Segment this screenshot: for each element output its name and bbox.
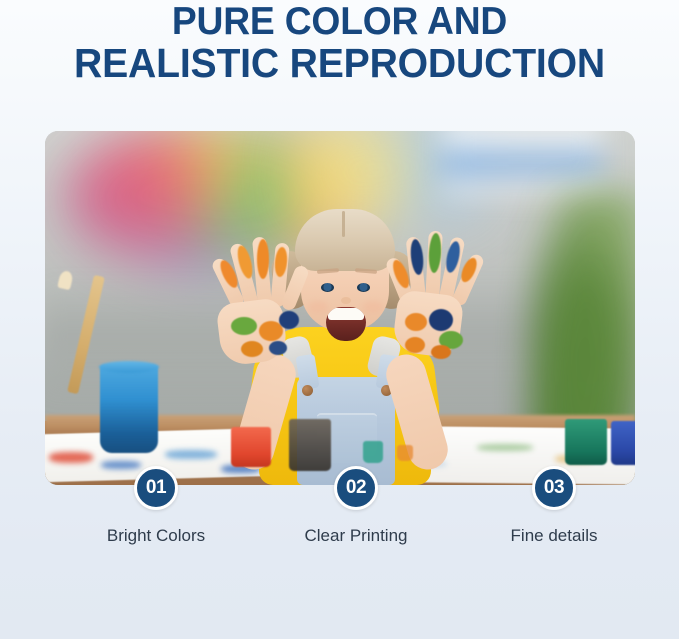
photo-water-cup [100,365,158,453]
feature-label-1: Bright Colors [56,526,256,546]
photo-girl-nose [341,297,351,304]
photo-girl-overalls-button [302,385,313,396]
photo-paint-blob [405,313,427,331]
feature-label-3: Fine details [454,526,654,546]
page-title-line-2: REALISTIC REPRODUCTION [15,42,663,84]
photo-paint-jar [363,441,383,463]
photo-paint-jar [611,421,635,465]
feature-badge-03: 03 [532,466,576,510]
photo-girl-cheek-right [363,301,383,313]
photo-paint-jar [231,427,271,467]
page-title: PURE COLOR AND REALISTIC REPRODUCTION [0,0,679,84]
feature-item-1: 01 Bright Colors [56,466,256,546]
photo-girl-hair-part [342,211,345,237]
feature-item-2: 02 Clear Printing [256,466,456,546]
photo-paint-blob [431,345,451,359]
feature-list: 01 Bright Colors 02 Clear Printing 03 Fi… [0,466,679,566]
hero-photo [45,131,635,485]
photo-girl-eye-left [321,283,334,292]
photo-paint-blob [279,311,299,329]
feature-item-3: 03 Fine details [454,466,654,546]
photo-girl-hair [295,209,395,271]
feature-badge-02: 02 [334,466,378,510]
photo-girl-eye-right [357,283,370,292]
photo-paint-jar [289,419,331,471]
photo-girl-teeth [328,308,364,320]
photo-paint-blob [269,341,287,355]
photo-paint-blob [231,317,257,335]
photo-paint-blob [241,341,263,357]
photo-girl-cheek-left [308,301,328,313]
photo-paint-blob [257,239,269,279]
feature-label-2: Clear Printing [256,526,456,546]
photo-paint-blob [405,337,425,353]
photo-paint-jar [565,419,607,465]
feature-badge-01: 01 [134,466,178,510]
photo-paint-jar [397,445,413,461]
page-title-line-1: PURE COLOR AND [15,2,663,42]
photo-paint-blob [429,309,453,331]
photo-water-cup-rim [99,361,159,373]
photo-girl-mouth [326,307,366,341]
